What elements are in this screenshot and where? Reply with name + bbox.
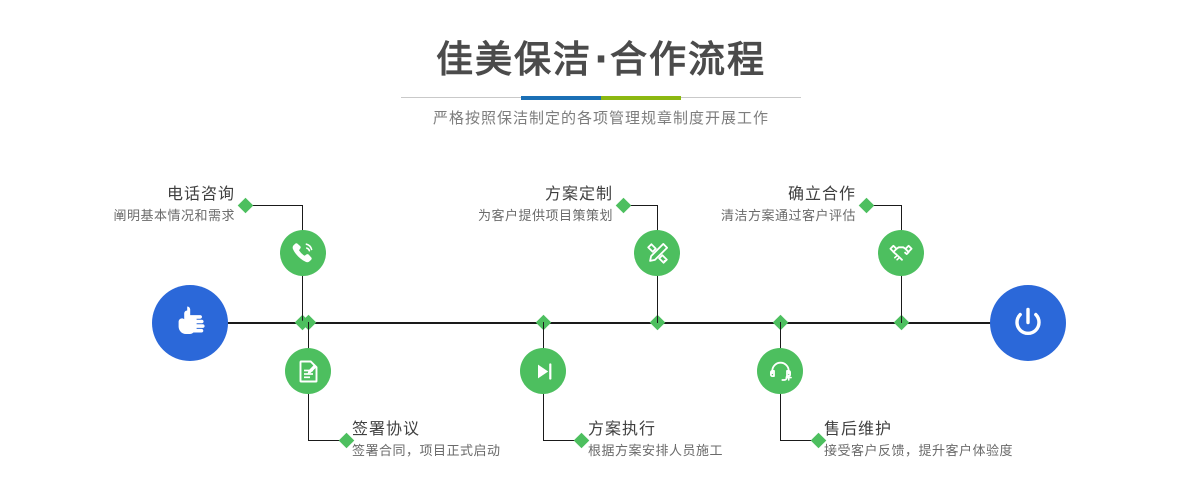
step-label-6: 售后维护 接受客户反馈，提升客户体验度 <box>824 418 1074 463</box>
page-title-sub: 合作流程 <box>610 38 766 81</box>
pointing-hand-icon <box>170 303 210 343</box>
page-title-separator: · <box>592 38 610 81</box>
step-label-3: 方案定制 为客户提供项目策策划 <box>415 183 613 228</box>
step-title-3: 方案定制 <box>415 183 613 205</box>
step-title-5: 确立合作 <box>658 183 856 205</box>
step-label-1: 电话咨询 阐明基本情况和需求 <box>40 183 235 228</box>
title-divider <box>401 96 801 100</box>
handshake-icon <box>887 239 915 267</box>
step-node-5[interactable] <box>878 230 924 276</box>
step-title-6: 售后维护 <box>824 418 1074 440</box>
power-icon <box>1007 302 1049 344</box>
timeline-start-badge <box>152 285 228 361</box>
label-marker-1 <box>238 198 254 214</box>
step-node-2[interactable] <box>285 348 331 394</box>
play-forward-icon <box>530 358 557 385</box>
step-node-3[interactable] <box>634 230 680 276</box>
step-desc-2: 签署合同，项目正式启动 <box>352 441 582 463</box>
step-label-4: 方案执行 根据方案安排人员施工 <box>588 418 808 463</box>
step-title-1: 电话咨询 <box>40 183 235 205</box>
step-node-6[interactable] <box>757 348 803 394</box>
step-desc-6: 接受客户反馈，提升客户体验度 <box>824 441 1074 463</box>
page-title-main: 佳美保洁 <box>436 38 592 81</box>
label-marker-5 <box>859 198 875 214</box>
step-title-2: 签署协议 <box>352 418 582 440</box>
divider-accent-blue <box>521 96 601 100</box>
page-subtitle: 严格按照保洁制定的各项管理规章制度开展工作 <box>0 104 1202 132</box>
step-desc-3: 为客户提供项目策策划 <box>415 206 613 228</box>
divider-accent-green <box>601 96 681 100</box>
step-desc-4: 根据方案安排人员施工 <box>588 441 808 463</box>
process-timeline: 电话咨询 阐明基本情况和需求 签署协议 签署合同，项目正式启动 <box>0 150 1202 502</box>
step-title-4: 方案执行 <box>588 418 808 440</box>
step-node-1[interactable] <box>280 230 326 276</box>
step-node-4[interactable] <box>520 348 566 394</box>
page-header: 佳美保洁·合作流程 严格按照保洁制定的各项管理规章制度开展工作 <box>0 0 1202 150</box>
connector-horizontal-1 <box>245 205 303 206</box>
phone-call-icon <box>289 239 317 267</box>
step-desc-5: 清洁方案通过客户评估 <box>658 206 856 228</box>
page-title: 佳美保洁·合作流程 <box>0 36 1202 84</box>
step-desc-1: 阐明基本情况和需求 <box>40 206 235 228</box>
pencil-ruler-icon <box>644 240 671 267</box>
headset-support-icon <box>767 358 794 385</box>
document-edit-icon <box>295 358 322 385</box>
timeline-end-badge <box>990 285 1066 361</box>
label-marker-3 <box>616 198 632 214</box>
step-label-5: 确立合作 清洁方案通过客户评估 <box>658 183 856 228</box>
